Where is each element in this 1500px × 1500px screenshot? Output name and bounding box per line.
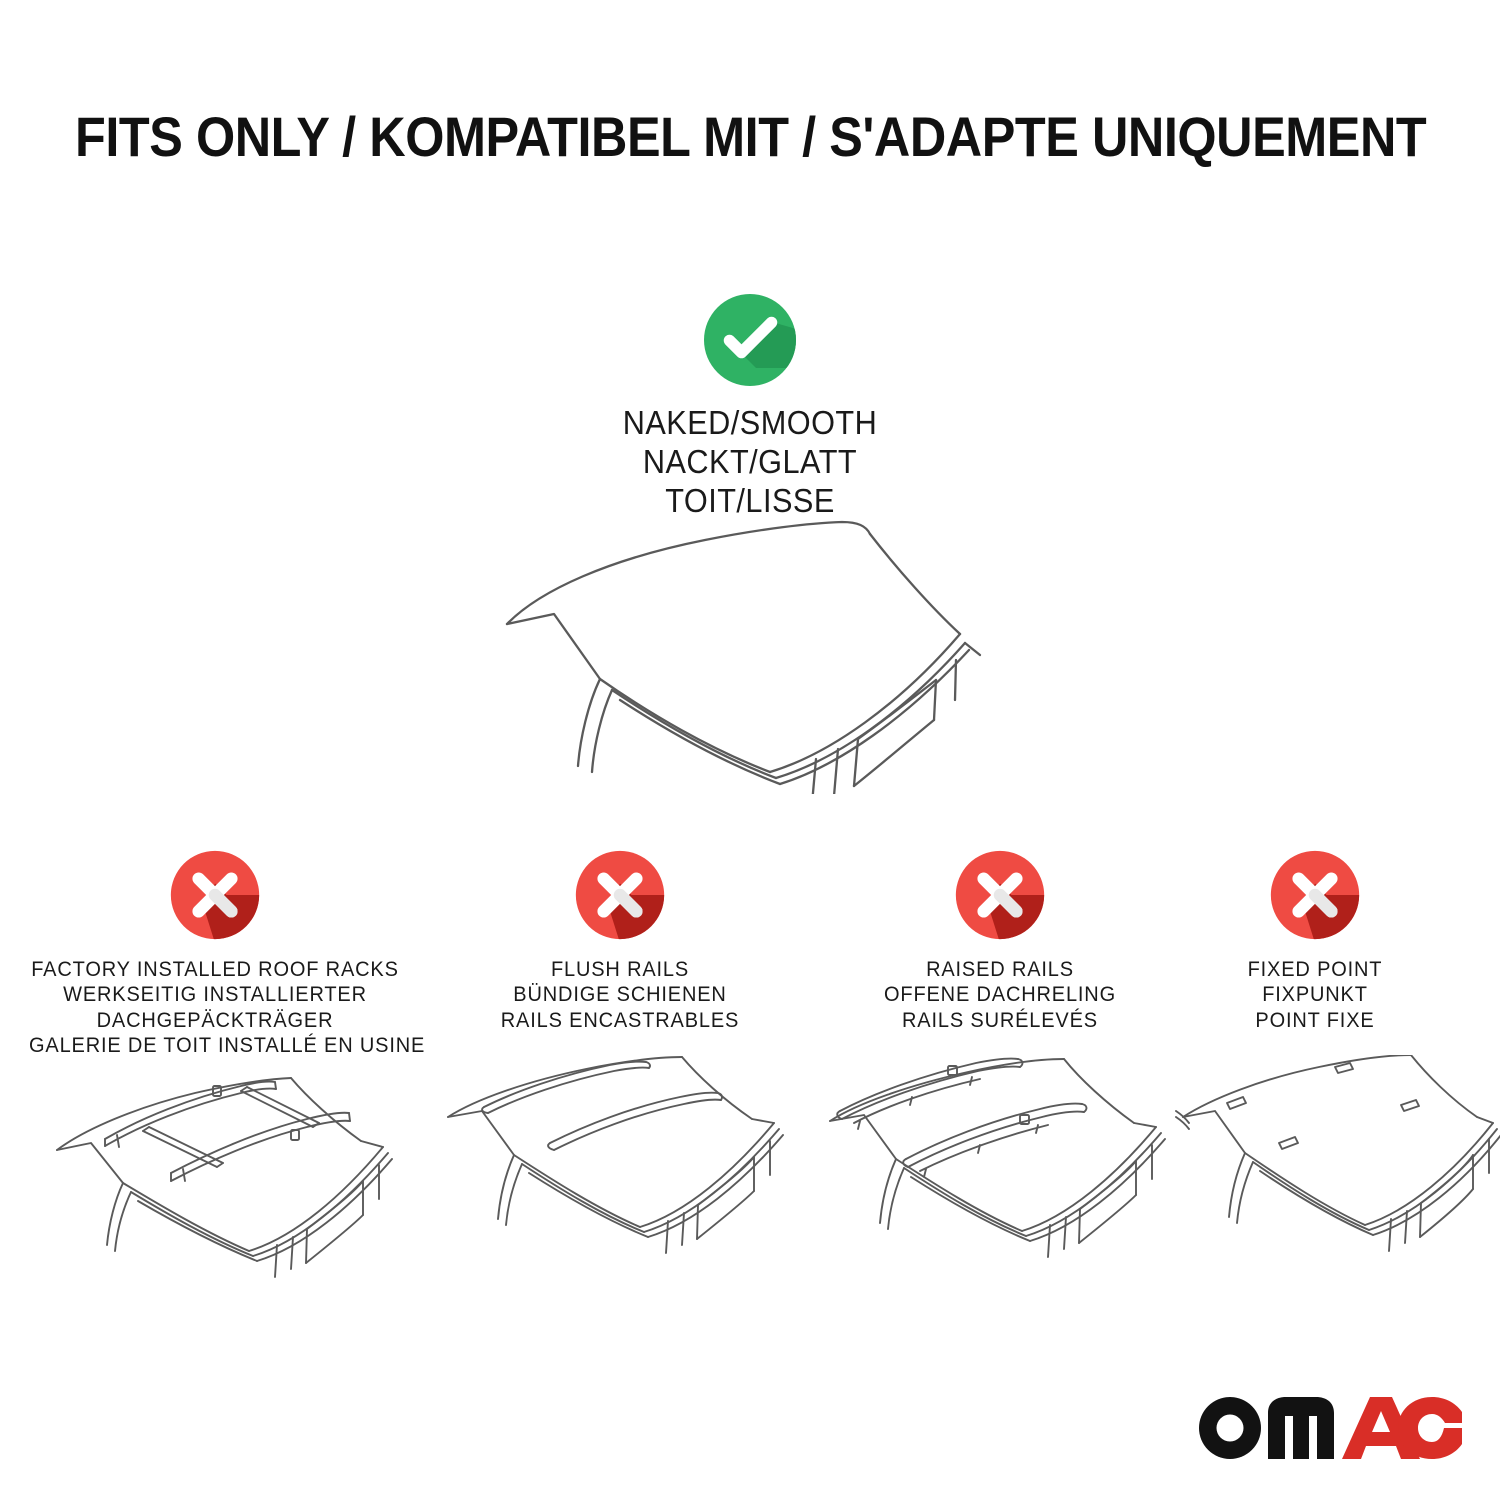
- x-circle-icon: [1267, 847, 1363, 943]
- incompatible-label-0: FACTORY INSTALLED ROOF RACKS WERKSEITIG …: [29, 957, 401, 1058]
- incompatible-label-0-line-3: DACHGEPÄCKTRÄGER: [29, 1008, 401, 1033]
- incompatible-badge-wrap-2: [830, 845, 1170, 945]
- incompatible-label-1-line-2: BÜNDIGE SCHIENEN: [462, 982, 778, 1007]
- fixed-point-illustration: [1175, 1055, 1500, 1285]
- factory-roof-rack-illustration: [45, 1055, 415, 1285]
- incompatible-badge-wrap-0: [15, 845, 415, 945]
- naked-smooth-roof-illustration: [460, 504, 1040, 794]
- x-circle-icon: [572, 847, 668, 943]
- incompatible-label-3: FIXED POINT FIXPUNKT POINT FIXE: [1185, 957, 1445, 1033]
- check-circle-icon: [700, 290, 800, 390]
- incompatible-badge-wrap-1: [450, 845, 790, 945]
- incompatible-label-1-line-1: FLUSH RAILS: [462, 957, 778, 982]
- incompatible-label-3-line-1: FIXED POINT: [1185, 957, 1445, 982]
- incompatible-item-flush-rails: FLUSH RAILS BÜNDIGE SCHIENEN RAILS ENCAS…: [450, 845, 790, 1033]
- omac-logo: [1196, 1386, 1464, 1470]
- compatible-label-line-2: NACKT/GLATT: [480, 443, 1019, 482]
- x-circle-icon: [167, 847, 263, 943]
- incompatible-label-2: RAISED RAILS OFFENE DACHRELING RAILS SUR…: [842, 957, 1158, 1033]
- compatible-section: NAKED/SMOOTH NACKT/GLATT TOIT/LISSE: [460, 290, 1040, 521]
- compatible-label-line-1: NAKED/SMOOTH: [480, 404, 1019, 443]
- incompatible-label-3-line-3: POINT FIXE: [1185, 1008, 1445, 1033]
- incompatible-label-0-line-1: FACTORY INSTALLED ROOF RACKS: [29, 957, 401, 982]
- incompatible-item-factory-roof-racks: FACTORY INSTALLED ROOF RACKS WERKSEITIG …: [15, 845, 415, 1058]
- x-circle-icon: [952, 847, 1048, 943]
- incompatible-label-2-line-2: OFFENE DACHRELING: [842, 982, 1158, 1007]
- incompatible-label-1-line-3: RAILS ENCASTRABLES: [462, 1008, 778, 1033]
- page-title: FITS ONLY / KOMPATIBEL MIT / S'ADAPTE UN…: [75, 104, 1425, 169]
- incompatible-artwork-row: [0, 1055, 1500, 1305]
- incompatible-label-2-line-1: RAISED RAILS: [842, 957, 1158, 982]
- compatible-badge-wrap: [460, 290, 1040, 390]
- incompatible-item-raised-rails: RAISED RAILS OFFENE DACHRELING RAILS SUR…: [830, 845, 1170, 1033]
- flush-rails-illustration: [440, 1055, 810, 1285]
- raised-rails-illustration: [820, 1055, 1190, 1285]
- incompatible-item-fixed-point: FIXED POINT FIXPUNKT POINT FIXE: [1175, 845, 1455, 1033]
- incompatible-label-0-line-2: WERKSEITIG INSTALLIERTER: [29, 982, 401, 1007]
- incompatible-label-3-line-2: FIXPUNKT: [1185, 982, 1445, 1007]
- incompatible-badge-wrap-3: [1175, 845, 1455, 945]
- incompatible-label-2-line-3: RAILS SURÉLEVÉS: [842, 1008, 1158, 1033]
- incompatible-label-1: FLUSH RAILS BÜNDIGE SCHIENEN RAILS ENCAS…: [462, 957, 778, 1033]
